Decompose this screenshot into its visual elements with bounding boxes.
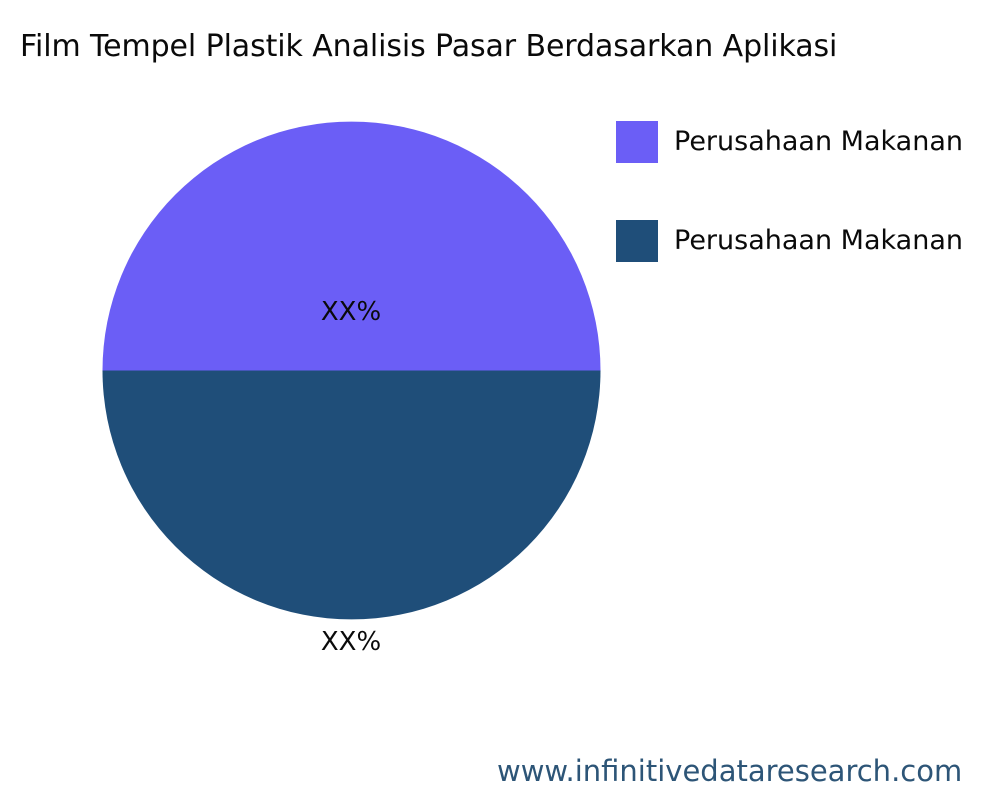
pie-slice-perusahaan-makanan-1[interactable] (103, 122, 601, 371)
chart-title: Film Tempel Plastik Analisis Pasar Berda… (20, 26, 995, 68)
pie-slice-label-2: XX% (291, 299, 411, 325)
pie-slice-perusahaan-makanan-2[interactable] (103, 371, 601, 620)
legend-item-label: Perusahaan Makanan (674, 220, 1000, 262)
pie-svg (102, 121, 601, 620)
pie-chart-figure: Film Tempel Plastik Analisis Pasar Berda… (0, 0, 1000, 800)
legend-color-swatch-icon (616, 121, 658, 163)
legend-item-label: Perusahaan Makanan (674, 121, 1000, 163)
legend-color-swatch-icon (616, 220, 658, 262)
pie-slice-label-1: XX% (291, 629, 411, 655)
legend-item-perusahaan-makanan-1[interactable]: Perusahaan Makanan (616, 121, 1000, 163)
chart-legend: Perusahaan Makanan Perusahaan Makanan (616, 121, 1000, 281)
legend-item-perusahaan-makanan-2[interactable]: Perusahaan Makanan (616, 220, 1000, 262)
pie-plot-area: XX% XX% (102, 121, 601, 620)
source-watermark-url: www.infinitivedataresearch.com (497, 752, 962, 790)
